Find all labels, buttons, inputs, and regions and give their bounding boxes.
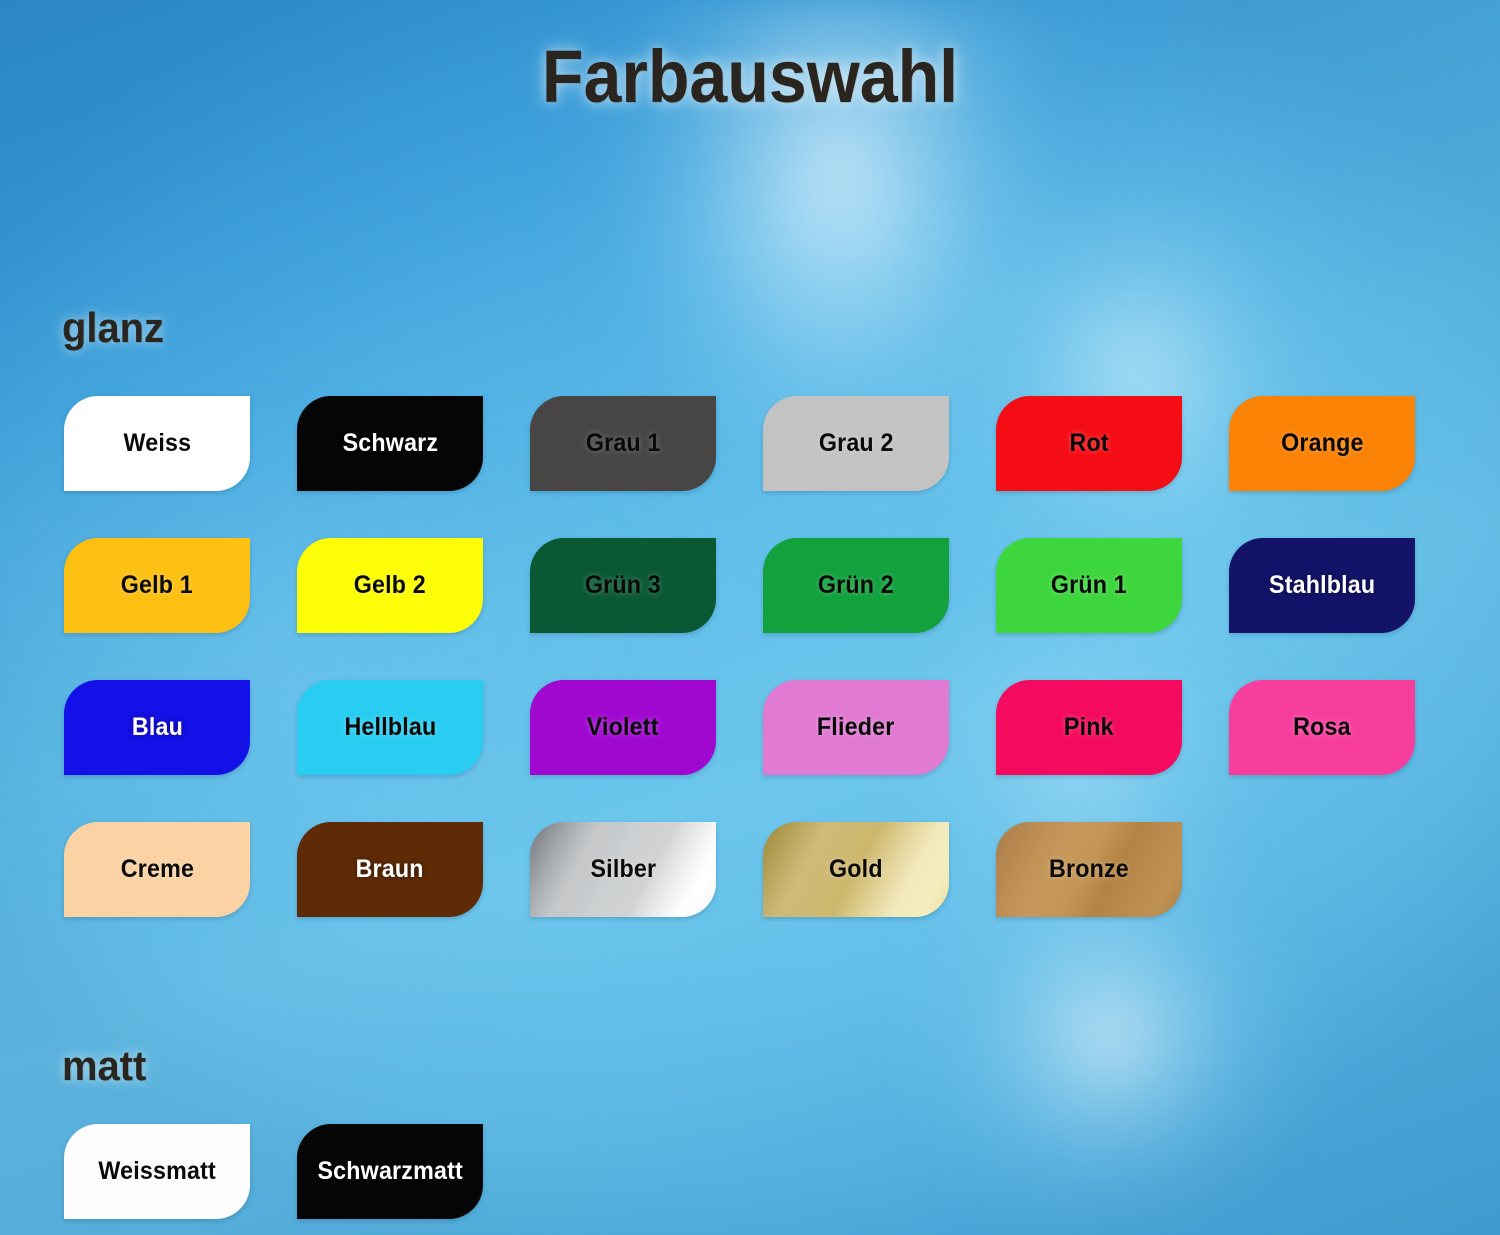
color-swatch-label: Hellblau xyxy=(344,713,436,742)
color-swatch-label: Grau 2 xyxy=(819,429,894,458)
color-swatch[interactable]: Silber xyxy=(530,822,716,917)
color-swatch[interactable]: Gelb 2 xyxy=(297,538,483,633)
color-swatch[interactable]: Violett xyxy=(530,680,716,775)
color-swatch[interactable]: Creme xyxy=(64,822,250,917)
color-swatch-label: Schwarz xyxy=(342,429,438,458)
color-swatch[interactable]: Rosa xyxy=(1229,680,1415,775)
color-swatch[interactable]: Rot xyxy=(996,396,1182,491)
color-swatch-label: Orange xyxy=(1281,429,1364,458)
color-swatch[interactable]: Weissmatt xyxy=(64,1124,250,1219)
color-swatch[interactable]: Flieder xyxy=(763,680,949,775)
color-swatch-label: Blau xyxy=(131,713,182,742)
color-swatch-label: Grün 1 xyxy=(1051,571,1127,600)
color-swatch[interactable]: Schwarzmatt xyxy=(297,1124,483,1219)
color-swatch-label: Braun xyxy=(356,855,424,884)
color-swatch-label: Grau 1 xyxy=(586,429,661,458)
color-swatch-label: Gelb 2 xyxy=(354,571,426,600)
color-swatch[interactable]: Grün 2 xyxy=(763,538,949,633)
color-swatch[interactable]: Schwarz xyxy=(297,396,483,491)
color-swatch[interactable]: Grau 1 xyxy=(530,396,716,491)
color-selection-page: Farbauswahl glanz WeissSchwarzGrau 1Grau… xyxy=(0,0,1500,1235)
page-content: Farbauswahl glanz WeissSchwarzGrau 1Grau… xyxy=(0,0,1500,1235)
color-swatch-label: Rosa xyxy=(1293,713,1351,742)
color-swatch-label: Pink xyxy=(1064,713,1114,742)
color-swatch-label: Violett xyxy=(587,713,659,742)
color-swatch-label: Stahlblau xyxy=(1269,571,1375,600)
color-swatch-label: Schwarzmatt xyxy=(317,1157,462,1186)
color-swatch[interactable]: Stahlblau xyxy=(1229,538,1415,633)
color-swatch[interactable]: Blau xyxy=(64,680,250,775)
color-swatch[interactable]: Pink xyxy=(996,680,1182,775)
color-swatch-label: Bronze xyxy=(1049,855,1129,884)
color-swatch-label: Rot xyxy=(1069,429,1108,458)
color-swatch[interactable]: Hellblau xyxy=(297,680,483,775)
color-swatch[interactable]: Gelb 1 xyxy=(64,538,250,633)
swatch-grid-glanz: WeissSchwarzGrau 1Grau 2RotOrangeGelb 1G… xyxy=(64,396,1434,917)
color-swatch-label: Gold xyxy=(829,855,883,884)
color-swatch-label: Silber xyxy=(590,855,656,884)
color-swatch-label: Flieder xyxy=(817,713,895,742)
color-swatch-label: Gelb 1 xyxy=(121,571,193,600)
page-title: Farbauswahl xyxy=(60,34,1440,119)
color-swatch[interactable]: Grün 3 xyxy=(530,538,716,633)
color-swatch-label: Creme xyxy=(120,855,193,884)
color-swatch-label: Weiss xyxy=(123,429,191,458)
color-swatch[interactable]: Braun xyxy=(297,822,483,917)
section-heading-glanz: glanz xyxy=(62,304,164,352)
color-swatch-label: Grün 2 xyxy=(818,571,894,600)
swatch-grid-matt: WeissmattSchwarzmatt xyxy=(64,1124,1434,1219)
color-swatch[interactable]: Orange xyxy=(1229,396,1415,491)
color-swatch[interactable]: Gold xyxy=(763,822,949,917)
color-swatch-label: Weissmatt xyxy=(98,1157,216,1186)
color-swatch[interactable]: Grau 2 xyxy=(763,396,949,491)
color-swatch[interactable]: Weiss xyxy=(64,396,250,491)
section-heading-matt: matt xyxy=(62,1042,146,1090)
color-swatch[interactable]: Grün 1 xyxy=(996,538,1182,633)
color-swatch[interactable]: Bronze xyxy=(996,822,1182,917)
color-swatch-label: Grün 3 xyxy=(585,571,661,600)
